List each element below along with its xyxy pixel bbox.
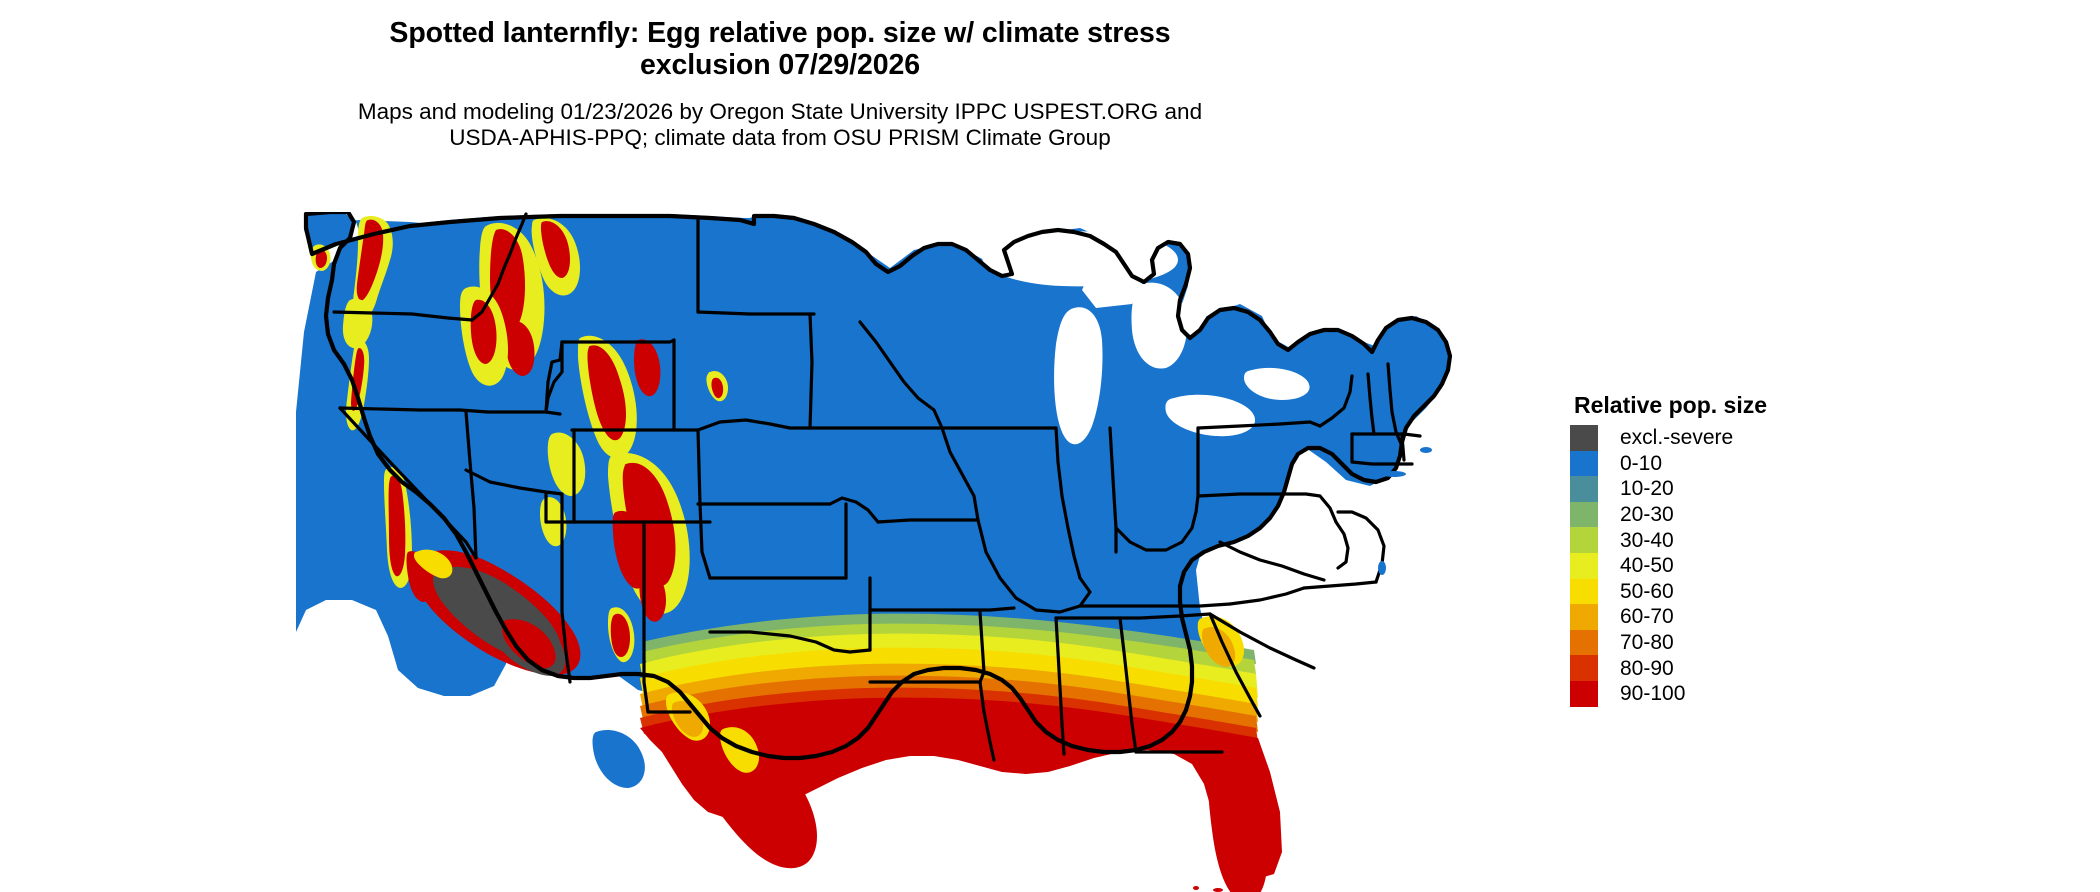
florida-keys-2 <box>1213 888 1223 892</box>
legend-row: 60-70 <box>1570 604 1900 630</box>
notch-riogrande-blue <box>593 730 645 788</box>
florida-keys-3 <box>1193 886 1199 890</box>
page-title-line-2: exclusion 07/29/2026 <box>0 50 1560 82</box>
legend-row: 0-10 <box>1570 451 1900 477</box>
legend-swatch <box>1570 604 1598 630</box>
map-page: Spotted lanternfly: Egg relative pop. si… <box>0 0 2100 892</box>
border-nc-va <box>1304 582 1376 588</box>
page-subtitle: Maps and modeling 01/23/2026 by Oregon S… <box>0 99 1560 152</box>
page-subtitle-line-1: Maps and modeling 01/23/2026 by Oregon S… <box>0 99 1560 126</box>
legend-row: 50-60 <box>1570 579 1900 605</box>
page-title-line-1: Spotted lanternfly: Egg relative pop. si… <box>0 18 1560 50</box>
channel-island-3 <box>471 663 481 669</box>
border-va-wv-md <box>1220 542 1324 580</box>
legend-row: 10-20 <box>1570 476 1900 502</box>
legend-label: 10-20 <box>1620 478 1674 499</box>
border-ri-ma <box>1402 436 1404 460</box>
channel-island-2 <box>452 651 464 657</box>
legend-swatch <box>1570 425 1598 451</box>
legend-label: 20-30 <box>1620 504 1674 525</box>
legend-label: 90-100 <box>1620 683 1685 704</box>
legend-label: 0-10 <box>1620 453 1662 474</box>
legend-label: 50-60 <box>1620 581 1674 602</box>
page-title: Spotted lanternfly: Egg relative pop. si… <box>0 18 1560 82</box>
legend-row: 70-80 <box>1570 630 1900 656</box>
channel-island-4 <box>442 646 450 650</box>
legend-label: 60-70 <box>1620 606 1674 627</box>
choropleth-map <box>290 212 1540 892</box>
florida-keys-1 <box>1229 886 1243 891</box>
legend-label: excl.-severe <box>1620 427 1733 448</box>
legend-swatch <box>1570 655 1598 681</box>
legend-label: 70-80 <box>1620 632 1674 653</box>
border-va-nc-coast <box>1338 512 1384 582</box>
legend-row: excl.-severe <box>1570 425 1900 451</box>
legend-swatch <box>1570 502 1598 528</box>
legend-row: 90-100 <box>1570 681 1900 707</box>
map-legend: Relative pop. size excl.-severe0-1010-20… <box>1570 392 1900 707</box>
legend-label: 40-50 <box>1620 555 1674 576</box>
legend-row: 20-30 <box>1570 502 1900 528</box>
legend-swatch <box>1570 579 1598 605</box>
legend-swatch <box>1570 451 1598 477</box>
page-subtitle-line-2: USDA-APHIS-PPQ; climate data from OSU PR… <box>0 125 1560 152</box>
us-map-svg <box>290 212 1540 892</box>
legend-row: 40-50 <box>1570 553 1900 579</box>
legend-swatch <box>1570 553 1598 579</box>
outer-banks <box>1378 561 1386 575</box>
legend-entries: excl.-severe0-1010-2020-3030-4040-5050-6… <box>1570 425 1900 707</box>
title-block: Spotted lanternfly: Egg relative pop. si… <box>0 18 1560 152</box>
long-island-speck <box>1382 471 1406 477</box>
legend-title: Relative pop. size <box>1574 392 1900 419</box>
legend-swatch <box>1570 681 1598 707</box>
legend-label: 80-90 <box>1620 658 1674 679</box>
border-md-de <box>1336 522 1348 568</box>
legend-row: 30-40 <box>1570 527 1900 553</box>
legend-swatch <box>1570 630 1598 656</box>
border-sd-mn-ia <box>810 314 812 428</box>
border-tn-nc <box>1230 588 1304 604</box>
cape-cod-speck <box>1420 447 1432 453</box>
legend-swatch <box>1570 476 1598 502</box>
legend-label: 30-40 <box>1620 530 1674 551</box>
channel-island-1 <box>427 633 445 639</box>
legend-swatch <box>1570 527 1598 553</box>
legend-row: 80-90 <box>1570 655 1900 681</box>
